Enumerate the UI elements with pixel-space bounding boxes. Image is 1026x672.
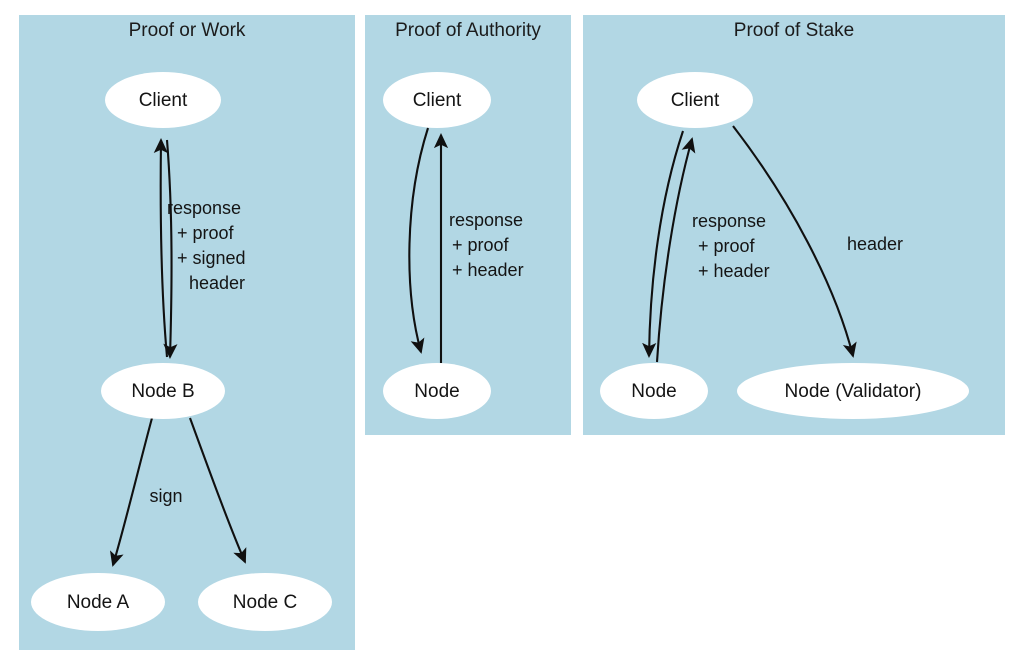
panel-title-proof-of-work: Proof or Work xyxy=(129,20,246,41)
diagram-root: Proof or Work Client Node B Node A Node … xyxy=(0,0,1026,672)
edge-label-pow-sign: sign xyxy=(149,486,182,506)
svg-text:response: response xyxy=(692,211,766,231)
panel-title-proof-of-authority: Proof of Authority xyxy=(395,20,541,41)
svg-text:+ proof: + proof xyxy=(452,235,510,255)
node-label-pow-client: Client xyxy=(139,90,188,111)
node-poa-client: Client xyxy=(383,72,491,128)
svg-text:+ header: + header xyxy=(452,260,524,280)
svg-text:response: response xyxy=(167,198,241,218)
svg-text:+ proof: + proof xyxy=(177,223,235,243)
node-pos-client: Client xyxy=(637,72,753,128)
node-pow-node-c: Node C xyxy=(198,573,332,631)
node-pow-node-b: Node B xyxy=(101,363,225,419)
panel-proof-of-work: Proof or Work Client Node B Node A Node … xyxy=(19,15,355,650)
node-label-pow-node-c: Node C xyxy=(233,592,297,613)
node-label-pos-client: Client xyxy=(671,90,720,111)
node-label-pos-node: Node xyxy=(631,381,676,402)
svg-text:+ signed: + signed xyxy=(177,248,246,268)
svg-text:response: response xyxy=(449,210,523,230)
panel-proof-of-authority: Proof of Authority Client Node response … xyxy=(365,15,571,435)
protocol-comparison-diagram: Proof or Work Client Node B Node A Node … xyxy=(0,0,1026,672)
panel-proof-of-stake: Proof of Stake Client Node Node (Validat… xyxy=(583,15,1005,435)
node-poa-node: Node xyxy=(383,363,491,419)
node-pos-validator: Node (Validator) xyxy=(737,363,969,419)
node-label-pow-node-b: Node B xyxy=(131,381,194,402)
svg-text:header: header xyxy=(189,273,245,293)
node-label-pos-validator: Node (Validator) xyxy=(785,381,922,402)
edge-label-pos-header: header xyxy=(847,234,903,254)
node-label-poa-client: Client xyxy=(413,90,462,111)
node-pow-client: Client xyxy=(105,72,221,128)
node-label-poa-node: Node xyxy=(414,381,459,402)
node-pos-node: Node xyxy=(600,363,708,419)
svg-text:+ proof: + proof xyxy=(698,236,756,256)
node-label-pow-node-a: Node A xyxy=(67,592,130,613)
panel-title-proof-of-stake: Proof of Stake xyxy=(734,20,854,41)
node-pow-node-a: Node A xyxy=(31,573,165,631)
svg-text:+ header: + header xyxy=(698,261,770,281)
